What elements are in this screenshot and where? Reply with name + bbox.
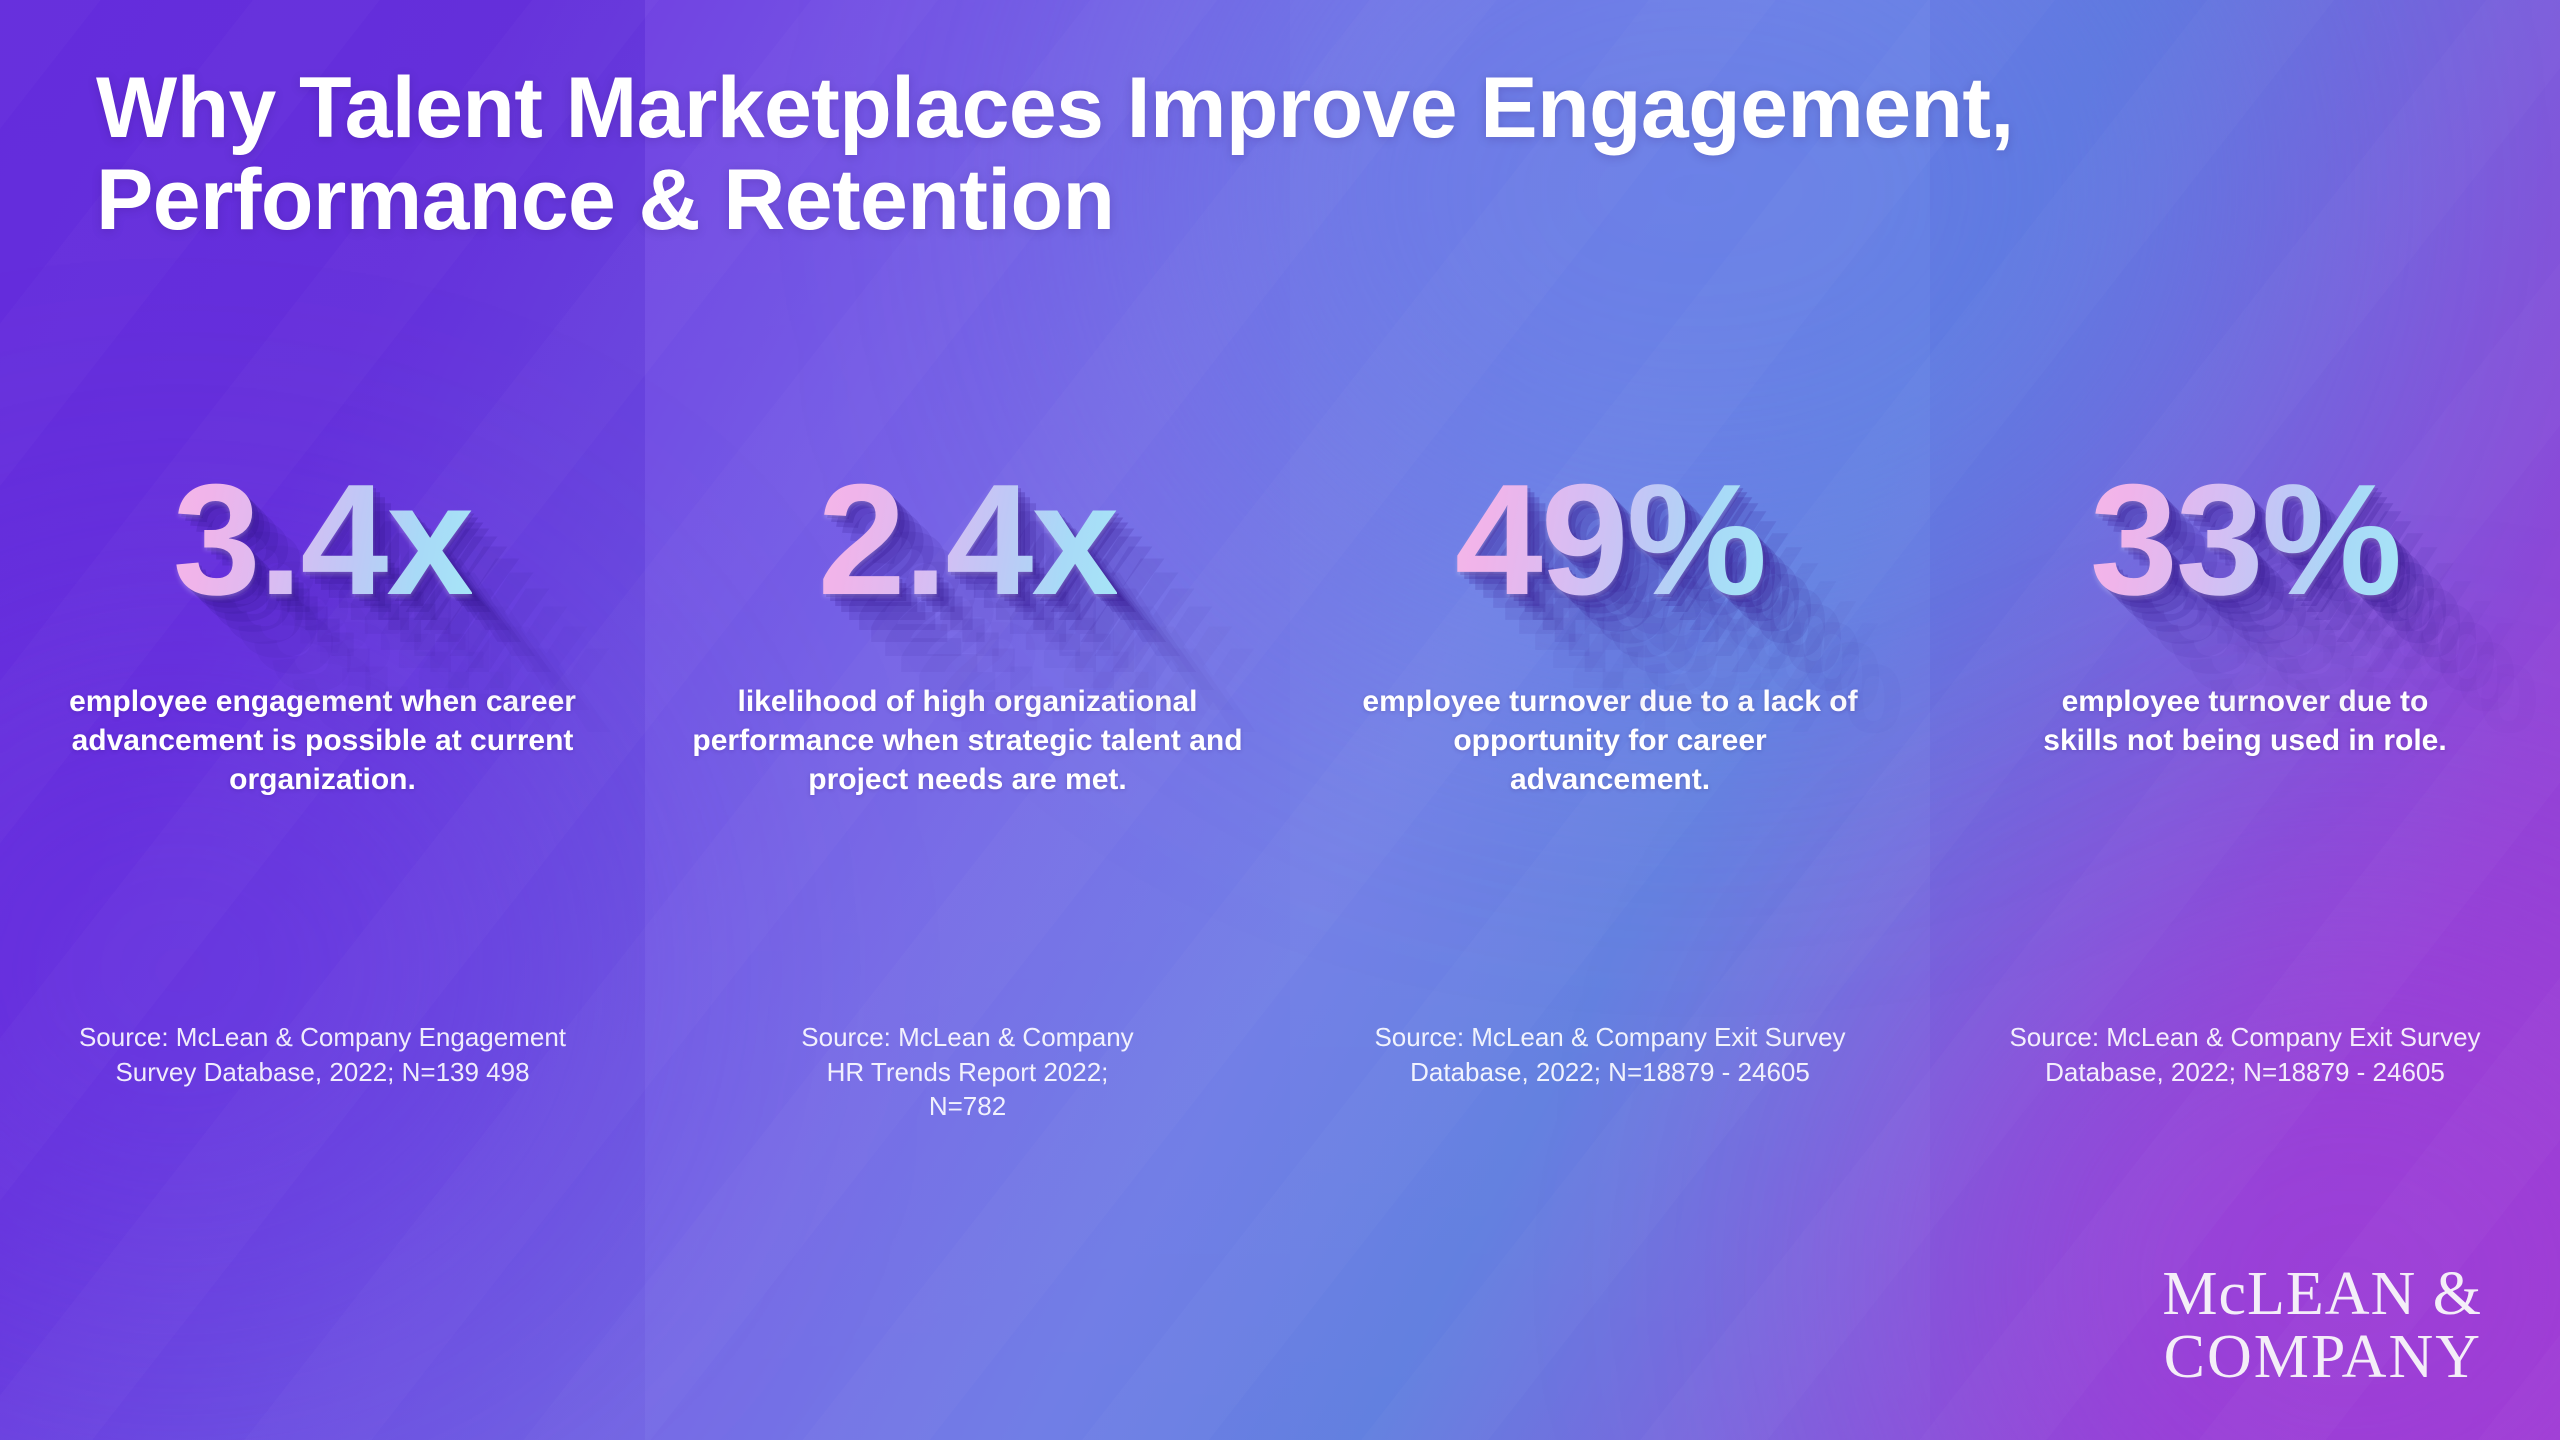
infographic-canvas: Why Talent Marketplaces Improve Engageme… <box>0 0 2560 1440</box>
header: Why Talent Marketplaces Improve Engageme… <box>96 62 2396 246</box>
stat-figure-3: 49% <box>1455 440 1765 640</box>
stat-source-3: Source: McLean & Company Exit Survey Dat… <box>1290 1020 1930 1089</box>
stat-figure-wrap-2: 2.4x 2.4x <box>671 440 1264 640</box>
stat-figure-1: 3.4x <box>173 440 473 640</box>
mclean-company-logo: McLEAN & COMPANY <box>2162 1265 2482 1388</box>
page-title: Why Talent Marketplaces Improve Engageme… <box>96 62 2376 246</box>
stat-figure-wrap-4: 33% 33% <box>1956 440 2534 640</box>
stat-card-2: 2.4x 2.4x likelihood of high organizatio… <box>645 440 1290 799</box>
stats-row: 3.4x 3.4x employee engagement when caree… <box>0 440 2560 799</box>
logo-line-1: McLEAN & <box>2162 1265 2482 1325</box>
logo-line-2: COMPANY <box>2162 1328 2482 1388</box>
stat-card-4: 33% 33% employee turnover due to skills … <box>1930 440 2560 799</box>
stat-card-3: 49% 49% employee turnover due to a lack … <box>1290 440 1930 799</box>
stat-source-4: Source: McLean & Company Exit Survey Dat… <box>1930 1020 2560 1089</box>
stat-caption-2: likelihood of high organizational perfor… <box>688 682 1248 799</box>
stat-caption-1: employee engagement when career advancem… <box>53 682 593 799</box>
stat-figure-2: 2.4x <box>818 440 1118 640</box>
stat-figure-wrap-1: 3.4x 3.4x <box>26 440 619 640</box>
stat-caption-4: employee turnover due to skills not bein… <box>2020 682 2470 760</box>
stat-figure-4: 33% <box>2090 440 2400 640</box>
stat-source-1: Source: McLean & Company Engagement Surv… <box>0 1020 645 1089</box>
stat-figure-wrap-3: 49% 49% <box>1316 440 1904 640</box>
stat-caption-3: employee turnover due to a lack of oppor… <box>1350 682 1870 799</box>
stat-card-1: 3.4x 3.4x employee engagement when caree… <box>0 440 645 799</box>
stat-source-2: Source: McLean & Company HR Trends Repor… <box>645 1020 1290 1124</box>
